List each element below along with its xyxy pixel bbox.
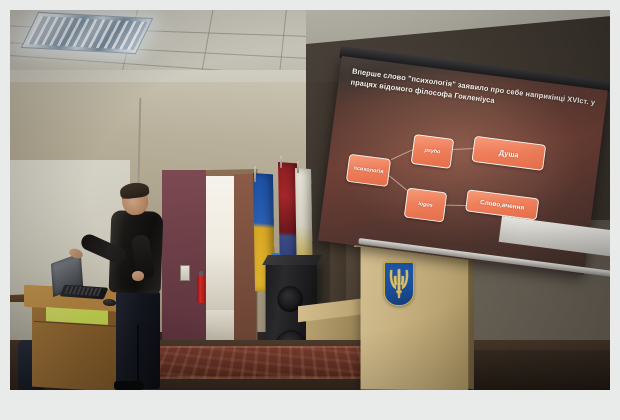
podium [361, 241, 469, 390]
tryzub-icon [387, 266, 411, 300]
diagram-node-dusha: Душа [471, 136, 546, 171]
connector-root-psyho [391, 149, 413, 160]
presenter [96, 185, 178, 390]
speaker-top-face [262, 255, 322, 265]
fluorescent-light-icon [21, 12, 154, 54]
diagram-node-root: психологія [346, 154, 391, 187]
presenter-right-hand [132, 271, 144, 281]
connector-logos-slovo [446, 205, 468, 207]
connector-psyho-dusha [453, 148, 475, 150]
wall-switch-box[interactable] [180, 265, 190, 281]
photo-frame: Вперше слово "психологія" заявило про се… [0, 0, 620, 420]
connector-root-logos [389, 175, 408, 191]
presenter-leg-seam [137, 325, 139, 387]
presenter-shoe [114, 381, 144, 390]
photograph: Вперше слово "психологія" заявило про се… [10, 10, 610, 390]
diagram-node-logos: logos [404, 188, 448, 223]
diagram-node-psyho: psyho [411, 134, 455, 169]
fire-extinguisher-icon [197, 275, 205, 303]
